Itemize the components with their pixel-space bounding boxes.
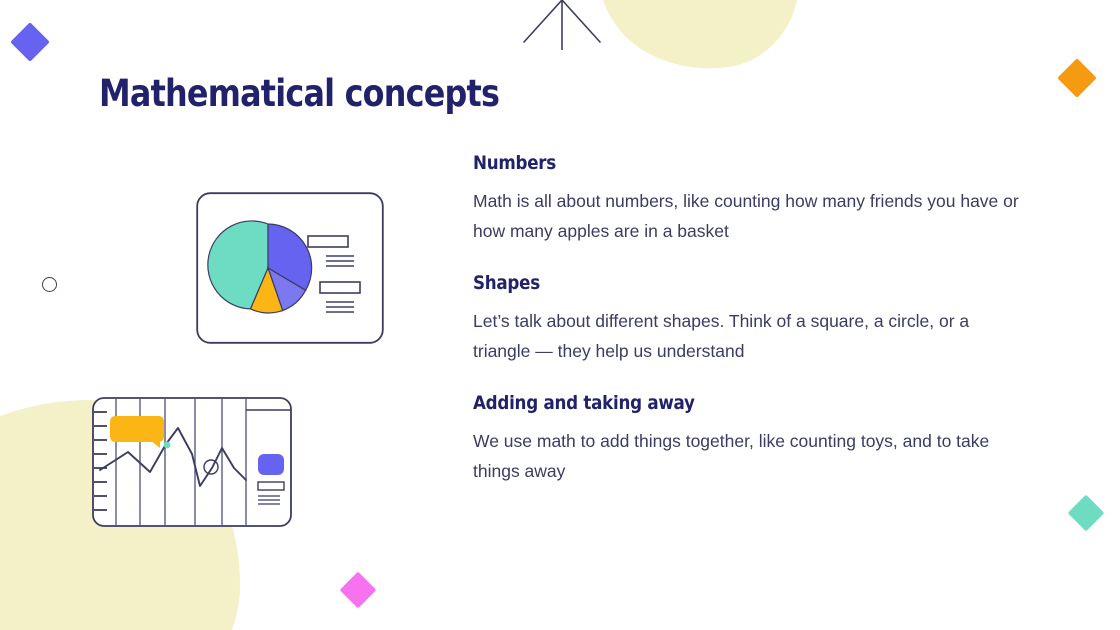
diamond-orange-icon <box>1057 58 1097 98</box>
pie-slices <box>208 221 312 313</box>
line-chart-illustration <box>88 396 294 530</box>
section-numbers: Numbers Math is all about numbers, like … <box>473 152 1033 246</box>
diamond-purple-icon <box>10 22 50 62</box>
panel-swatch <box>258 454 284 475</box>
section-heading: Shapes <box>473 272 966 294</box>
pie-chart-illustration <box>196 192 384 344</box>
blob-top-decoration <box>588 0 812 83</box>
circle-outline-icon <box>42 277 57 292</box>
page-title: Mathematical concepts <box>99 72 499 115</box>
section-body: We use math to add things together, like… <box>473 426 1021 486</box>
section-body: Math is all about numbers, like counting… <box>473 186 1021 246</box>
section-heading: Adding and taking away <box>473 392 966 414</box>
diamond-pink-icon <box>340 572 377 609</box>
legend-label-box-2 <box>320 282 360 293</box>
legend-label-box-1 <box>308 236 348 247</box>
section-adding-and-taking-away: Adding and taking away We use math to ad… <box>473 392 1033 486</box>
diamond-teal-icon <box>1068 495 1105 532</box>
section-shapes: Shapes Let’s talk about different shapes… <box>473 272 1033 366</box>
panel-label-box <box>258 482 284 490</box>
content-column: Numbers Math is all about numbers, like … <box>473 152 1033 486</box>
section-body: Let’s talk about different shapes. Think… <box>473 306 1021 366</box>
section-heading: Numbers <box>473 152 966 174</box>
data-point-marker <box>164 442 171 449</box>
arrow-up-icon <box>512 0 612 52</box>
slide-canvas: Mathematical concepts <box>0 0 1120 630</box>
